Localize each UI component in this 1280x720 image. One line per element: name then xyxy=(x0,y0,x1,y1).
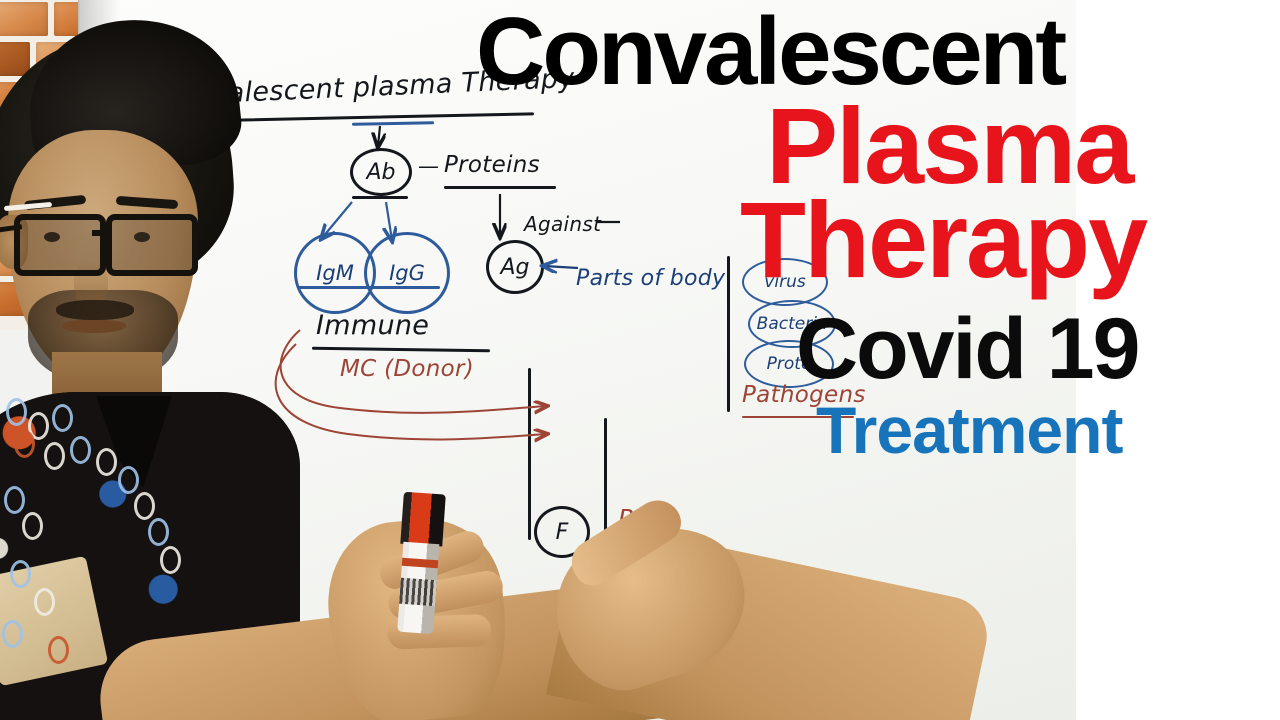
eyeglasses-icon xyxy=(14,214,200,266)
title-line-convalescent: Convalescent xyxy=(476,8,1064,96)
title-line-covid-19: Covid 19 xyxy=(796,310,1138,389)
against-label: Against xyxy=(524,212,601,236)
parts-of-body-label: Parts of body xyxy=(576,266,725,291)
ab-circle: Ab xyxy=(350,148,412,196)
mouth xyxy=(62,320,126,333)
divider-line-right xyxy=(727,256,730,412)
immune-label: Immune xyxy=(316,310,429,341)
ig-underline xyxy=(298,286,440,289)
mc-donor-label: MC (Donor) xyxy=(340,356,474,382)
title-line-treatment: Treatment xyxy=(816,400,1122,461)
proteins-label: Proteins xyxy=(444,152,540,178)
igg-circle: IgG xyxy=(364,232,450,314)
ab-underline xyxy=(352,196,408,199)
divider-line-middle xyxy=(528,368,531,540)
ag-circle: Ag xyxy=(486,240,544,294)
proteins-underline xyxy=(444,186,556,189)
moustache xyxy=(56,300,134,320)
video-frame-screenshot: Convalescent plasma Therapy Ab — Protein… xyxy=(0,0,1280,720)
ab-dash: — xyxy=(418,154,439,178)
title-line-therapy: Therapy xyxy=(740,190,1146,289)
